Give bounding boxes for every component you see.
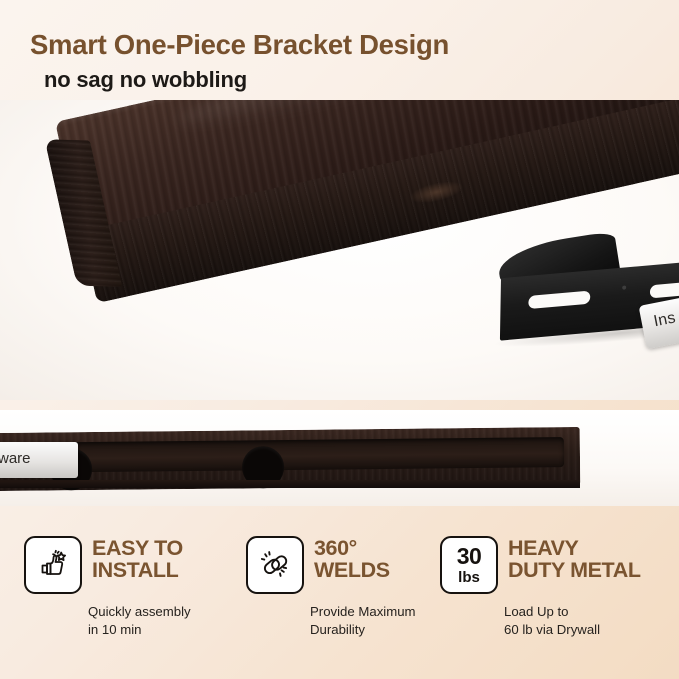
feature-subtitle: Load Up to 60 lb via Drywall xyxy=(440,603,672,639)
shelf-underside-edge xyxy=(0,480,580,488)
install-hardware-label-text: Ins xyxy=(652,309,677,331)
hardware-label: ware xyxy=(0,442,78,478)
header: Smart One-Piece Bracket Design no sag no… xyxy=(0,0,679,92)
thumbs-up-star-icon xyxy=(24,536,82,594)
feature-subtitle: Quickly assembly in 10 min xyxy=(24,603,234,639)
angled-shelf-with-bracket-photo: Ins xyxy=(0,100,679,400)
feature-row: EASY TO INSTALL Quickly assembly in 10 m… xyxy=(0,536,679,656)
bracket-slot xyxy=(650,280,679,298)
bracket-rivet xyxy=(622,285,626,289)
hardware-label-text: ware xyxy=(0,450,31,467)
bracket-slot xyxy=(528,291,590,309)
feature-title: EASY TO INSTALL xyxy=(92,536,183,582)
weight-unit: lbs xyxy=(458,570,480,585)
chain-link-weld-icon xyxy=(246,536,304,594)
product-feature-image: Smart One-Piece Bracket Design no sag no… xyxy=(0,0,679,679)
feature-heavy-duty-metal: 30 lbs HEAVY DUTY METAL Load Up to 60 lb… xyxy=(440,536,672,639)
feature-title: HEAVY DUTY METAL xyxy=(508,536,641,582)
bracket-channel-groove xyxy=(40,437,564,472)
feature-header: EASY TO INSTALL xyxy=(24,536,234,594)
feature-title: 360° WELDS xyxy=(314,536,390,582)
weight-capacity-icon: 30 lbs xyxy=(440,536,498,594)
shelf-underside-photo: ware xyxy=(0,410,679,506)
feature-360-welds: 360° WELDS Provide Maximum Durability xyxy=(246,536,436,639)
page-title: Smart One-Piece Bracket Design xyxy=(0,30,679,61)
feature-subtitle: Provide Maximum Durability xyxy=(246,603,436,639)
feature-header: 30 lbs HEAVY DUTY METAL xyxy=(440,536,672,594)
feature-header: 360° WELDS xyxy=(246,536,436,594)
feature-easy-to-install: EASY TO INSTALL Quickly assembly in 10 m… xyxy=(24,536,234,639)
weight-capacity-value: 30 lbs xyxy=(457,545,482,585)
weight-number: 30 xyxy=(457,545,482,568)
page-subtitle: no sag no wobbling xyxy=(0,61,679,92)
